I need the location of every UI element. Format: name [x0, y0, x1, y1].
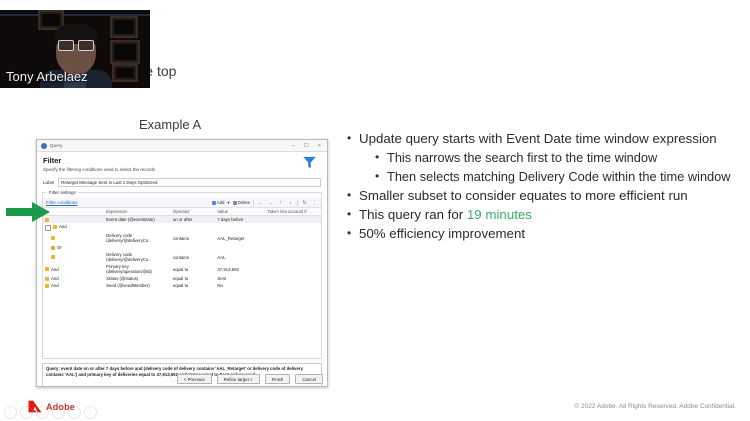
table-row[interactable]: -And — [43, 223, 321, 232]
list-item: • Smaller subset to consider equates to … — [347, 187, 745, 204]
play-icon[interactable] — [4, 406, 17, 419]
bullet-dot-icon: • — [347, 187, 359, 204]
tree-node-icon — [45, 284, 49, 288]
cell-operator: contains — [171, 232, 215, 244]
toolbar-separator — [297, 200, 298, 206]
dialog-header: Filter Specify the filtering conditions … — [37, 152, 327, 174]
table-row[interactable]: And Status (@status) equal to Sent — [43, 275, 321, 282]
fullscreen-icon[interactable] — [68, 406, 81, 419]
expand-icon[interactable]: ⋮ — [311, 199, 318, 206]
expand-toggle-icon[interactable]: - — [45, 225, 51, 231]
cell-operator: on or after — [171, 216, 215, 224]
filter-settings-label: Filter settings — [47, 190, 78, 195]
cancel-button[interactable]: Cancel — [295, 374, 323, 384]
minimize-button[interactable]: – — [292, 143, 295, 149]
refresh-icon[interactable]: ↻ — [301, 199, 308, 206]
list-item: • Then selects matching Delivery Code wi… — [375, 168, 745, 185]
app-icon — [41, 143, 47, 149]
arrow-left-icon[interactable]: ← — [257, 199, 264, 206]
list-item-label: Then selects matching Delivery Code with… — [387, 168, 731, 185]
green-arrow-icon — [6, 202, 50, 222]
cell-taken — [265, 216, 321, 224]
column-header-value: Value — [215, 208, 265, 216]
previous-button[interactable]: < Previous — [177, 374, 212, 384]
table-row[interactable]: And Seed (@seedMember) equal to No — [43, 282, 321, 289]
conditions-toolbar[interactable]: Filter conditions Add ▾ Delete ← → ↑ ↓ ↻… — [43, 198, 321, 208]
refine-target-button[interactable]: Refine target > — [217, 374, 260, 384]
wall-frame-icon — [110, 40, 140, 64]
conditions-table[interactable]: Expression Operator Value Taken into acc… — [43, 208, 321, 289]
bullet-list: • Update query starts with Event Date ti… — [347, 130, 745, 244]
list-item: • Update query starts with Event Date ti… — [347, 130, 745, 147]
cell-expression: And — [51, 267, 59, 272]
cell-expression: Delivery code (delivery/@deliveryCo.. — [104, 251, 171, 263]
cell-operator: equal to — [171, 282, 215, 289]
finish-button[interactable]: Finish — [265, 374, 291, 384]
glasses-left-lens-icon — [58, 40, 74, 51]
cell-expression: And — [59, 224, 67, 229]
arrow-up-icon[interactable]: ↑ — [277, 199, 284, 206]
column-header-taken-into-account: Taken into account if — [265, 208, 321, 216]
cell-value: 37,913,592 — [215, 263, 265, 275]
bullet-dot-icon: • — [375, 168, 387, 185]
label-field-row: Label Retarget Message Sent in Last 1 Da… — [37, 178, 327, 187]
cell-value: 7 days before — [215, 216, 265, 224]
cell-value: Sent — [215, 275, 265, 282]
column-header-expression: Expression — [104, 208, 171, 216]
list-item: • 50% efficiency improvement — [347, 225, 745, 242]
glasses-right-lens-icon — [78, 40, 94, 51]
tree-node-icon — [45, 267, 49, 271]
cell-expression: Status (@status) — [104, 275, 171, 282]
wall-frame-icon — [110, 16, 138, 38]
tree-node-icon — [53, 225, 57, 229]
example-label: Example A — [139, 117, 201, 132]
dialog-heading: Filter — [43, 156, 321, 165]
add-dropdown-caret[interactable]: ▾ — [227, 200, 229, 206]
maximize-button[interactable]: ☐ — [304, 143, 309, 149]
list-item: • This narrows the search first to the t… — [375, 149, 745, 166]
menu-icon[interactable] — [84, 406, 97, 419]
window-title: Query — [50, 143, 292, 148]
copyright-text: © 2022 Adobe. All Rights Reserved. Adobe… — [574, 403, 736, 410]
dialog-description: Specify the filtering conditions used to… — [43, 167, 321, 172]
tree-node-icon — [45, 277, 49, 281]
bullet-dot-icon: • — [375, 149, 387, 166]
list-item-label: Smaller subset to consider equates to mo… — [359, 187, 688, 204]
cell-expression: Delivery code (delivery/@deliveryCo.. — [104, 232, 171, 244]
toolbar-separator — [253, 200, 254, 206]
bullet-dot-icon: • — [347, 130, 359, 147]
cell-value: AAL_Retarget — [215, 232, 265, 244]
cell-expression: And — [51, 283, 59, 288]
table-row[interactable]: Delivery code (delivery/@deliveryCo.. co… — [43, 232, 321, 244]
tree-node-icon — [51, 236, 55, 240]
delete-icon — [233, 201, 237, 205]
dialog-button-bar[interactable]: < Previous Refine target > Finish Cancel — [177, 374, 323, 384]
filter-conditions-link[interactable]: Filter conditions — [46, 200, 78, 205]
column-header-tree — [43, 208, 104, 216]
list-item-label: 50% efficiency improvement — [359, 225, 525, 242]
cell-expression: Or — [57, 245, 62, 250]
list-item-label: Update query starts with Event Date time… — [359, 130, 717, 147]
add-button[interactable]: Add — [212, 200, 225, 205]
tree-node-icon — [51, 246, 55, 250]
table-header-row: Expression Operator Value Taken into acc… — [43, 208, 321, 216]
cell-expression: Seed (@seedMember) — [104, 282, 171, 289]
list-item-label: This query ran for 19 minutes — [359, 206, 532, 223]
cell-operator: equal to — [171, 275, 215, 282]
close-button[interactable]: × — [318, 143, 321, 149]
tree-node-icon — [51, 255, 55, 259]
participant-name: Tony Arbelaez — [6, 69, 88, 84]
cell-expression: Event date (@eventDate) — [104, 216, 171, 224]
bullet-dot-icon: • — [347, 225, 359, 242]
table-row[interactable]: Or — [43, 244, 321, 251]
player-controls[interactable] — [4, 406, 97, 419]
table-row[interactable]: And Primary key (delivery/operation/@id)… — [43, 263, 321, 275]
filter-settings-group: Filter settings Filter conditions Add ▾ … — [42, 192, 322, 359]
table-row[interactable]: Delivery code (delivery/@deliveryCo.. co… — [43, 251, 321, 263]
cell-value: AAL — [215, 251, 265, 263]
cell-expression: Primary key (delivery/operation/@id) — [104, 263, 171, 275]
cell-operator: contains — [171, 251, 215, 263]
runtime-highlight: 19 minutes — [467, 207, 532, 222]
webcam-video-overlay[interactable]: Tony Arbelaez — [0, 10, 150, 88]
label-field-caption: Label — [43, 180, 54, 185]
query-dialog-window[interactable]: Query – ☐ × Filter Specify the filtering… — [36, 139, 328, 387]
arrow-right-icon[interactable]: → — [267, 199, 274, 206]
cell-operator: equal to — [171, 263, 215, 275]
add-icon — [212, 201, 216, 205]
arrow-down-icon[interactable]: ↓ — [287, 199, 294, 206]
next-slide-icon[interactable] — [52, 406, 65, 419]
window-titlebar[interactable]: Query – ☐ × — [37, 140, 327, 152]
label-input[interactable]: Retarget Message Sent in Last 1 Days Opt… — [58, 178, 321, 187]
dialog-body: Filter Specify the filtering conditions … — [37, 152, 327, 387]
column-header-operator: Operator — [171, 208, 215, 216]
table-row[interactable]: Event date (@eventDate) on or after 7 da… — [43, 216, 321, 224]
cell-expression: And — [51, 276, 59, 281]
cell-value: No — [215, 282, 265, 289]
volume-icon[interactable] — [20, 406, 33, 419]
delete-button[interactable]: Delete — [233, 200, 250, 205]
list-item: • This query ran for 19 minutes — [347, 206, 745, 223]
list-item-label: This narrows the search first to the tim… — [387, 149, 657, 166]
wall-frame-icon — [112, 64, 138, 82]
funnel-icon — [302, 155, 317, 170]
prev-slide-icon[interactable] — [36, 406, 49, 419]
bullet-dot-icon: • — [347, 206, 359, 223]
